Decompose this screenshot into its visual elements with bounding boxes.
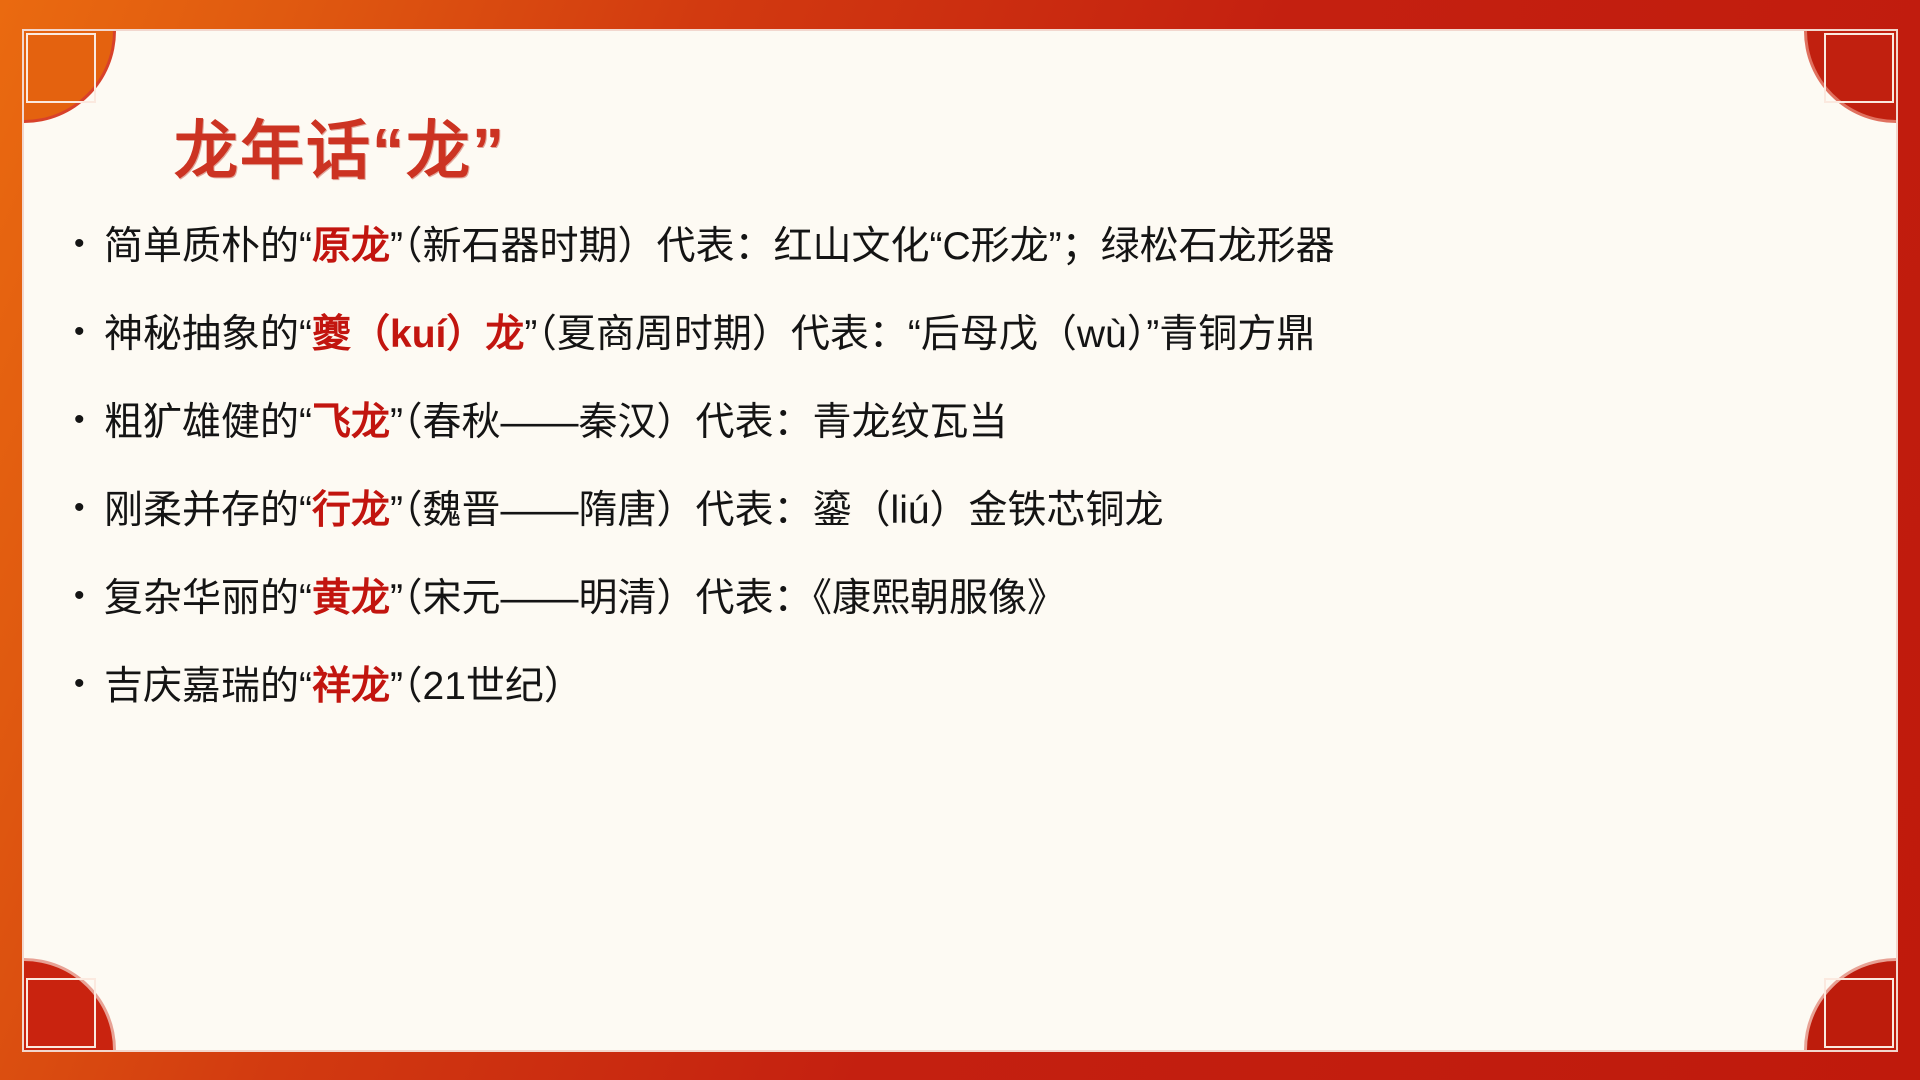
list-item-text: 简单质朴的“原龙”（新石器时期）代表：红山文化“C形龙”；绿松石龙形器 (104, 227, 1335, 266)
list-item-prefix: 简单质朴的 (104, 225, 299, 268)
bullet-list: • 简单质朴的“原龙”（新石器时期）代表：红山文化“C形龙”；绿松石龙形器 • … (74, 227, 1884, 755)
close-quote: ” (390, 577, 403, 620)
list-item-text: 神秘抽象的“夔（kuí）龙”（夏商周时期）代表：“后母戊（wù）”青铜方鼎 (104, 315, 1315, 354)
open-quote: “ (299, 401, 312, 444)
list-item-highlight: 祥龙 (312, 665, 390, 708)
list-item-prefix: 刚柔并存的 (104, 489, 299, 532)
close-quote: ” (390, 665, 403, 708)
bullet-dot-icon: • (74, 405, 104, 435)
close-quote: ” (390, 401, 403, 444)
open-quote: “ (299, 665, 312, 708)
open-quote: “ (299, 313, 312, 356)
list-item-suffix: （21世纪） (403, 665, 583, 708)
list-item: • 复杂华丽的“黄龙”（宋元——明清）代表：《康熙朝服像》 (74, 579, 1884, 667)
bullet-dot-icon: • (74, 229, 104, 259)
list-item-text: 吉庆嘉瑞的“祥龙”（21世纪） (104, 667, 583, 706)
list-item: • 吉庆嘉瑞的“祥龙”（21世纪） (74, 667, 1884, 755)
list-item-prefix: 神秘抽象的 (104, 313, 299, 356)
list-item-suffix: （夏商周时期）代表：“后母戊（wù）”青铜方鼎 (537, 313, 1315, 356)
list-item-highlight: 原龙 (312, 225, 390, 268)
list-item: • 简单质朴的“原龙”（新石器时期）代表：红山文化“C形龙”；绿松石龙形器 (74, 227, 1884, 315)
bullet-dot-icon: • (74, 493, 104, 523)
list-item-highlight: 黄龙 (312, 577, 390, 620)
list-item-prefix: 复杂华丽的 (104, 577, 299, 620)
list-item-suffix: （魏晋——隋唐）代表：鎏（liú）金铁芯铜龙 (403, 489, 1164, 532)
list-item-prefix: 粗犷雄健的 (104, 401, 299, 444)
list-item-text: 粗犷雄健的“飞龙”（春秋——秦汉）代表：青龙纹瓦当 (104, 403, 1008, 442)
list-item-highlight: 夔（kuí）龙 (312, 313, 524, 356)
list-item-text: 复杂华丽的“黄龙”（宋元——明清）代表：《康熙朝服像》 (104, 579, 1066, 618)
bullet-dot-icon: • (74, 581, 104, 611)
open-quote: “ (299, 225, 312, 268)
list-item-highlight: 飞龙 (312, 401, 390, 444)
close-quote: ” (390, 225, 403, 268)
close-quote: ” (390, 489, 403, 532)
list-item: • 粗犷雄健的“飞龙”（春秋——秦汉）代表：青龙纹瓦当 (74, 403, 1884, 491)
page-title: 龙年话“龙” (174, 119, 506, 183)
list-item-text: 刚柔并存的“行龙”（魏晋——隋唐）代表：鎏（liú）金铁芯铜龙 (104, 491, 1164, 530)
list-item: • 刚柔并存的“行龙”（魏晋——隋唐）代表：鎏（liú）金铁芯铜龙 (74, 491, 1884, 579)
bullet-dot-icon: • (74, 317, 104, 347)
open-quote: “ (299, 577, 312, 620)
bullet-dot-icon: • (74, 669, 104, 699)
list-item-suffix: （春秋——秦汉）代表：青龙纹瓦当 (403, 401, 1008, 444)
slide-content: 龙年话“龙” • 简单质朴的“原龙”（新石器时期）代表：红山文化“C形龙”；绿松… (24, 31, 1896, 1050)
list-item-prefix: 吉庆嘉瑞的 (104, 665, 299, 708)
close-quote: ” (524, 313, 537, 356)
list-item: • 神秘抽象的“夔（kuí）龙”（夏商周时期）代表：“后母戊（wù）”青铜方鼎 (74, 315, 1884, 403)
list-item-suffix: （新石器时期）代表：红山文化“C形龙”；绿松石龙形器 (403, 225, 1335, 268)
slide-root: 龙年话“龙” • 简单质朴的“原龙”（新石器时期）代表：红山文化“C形龙”；绿松… (0, 0, 1920, 1080)
open-quote: “ (299, 489, 312, 532)
list-item-highlight: 行龙 (312, 489, 390, 532)
list-item-suffix: （宋元——明清）代表：《康熙朝服像》 (403, 577, 1066, 620)
